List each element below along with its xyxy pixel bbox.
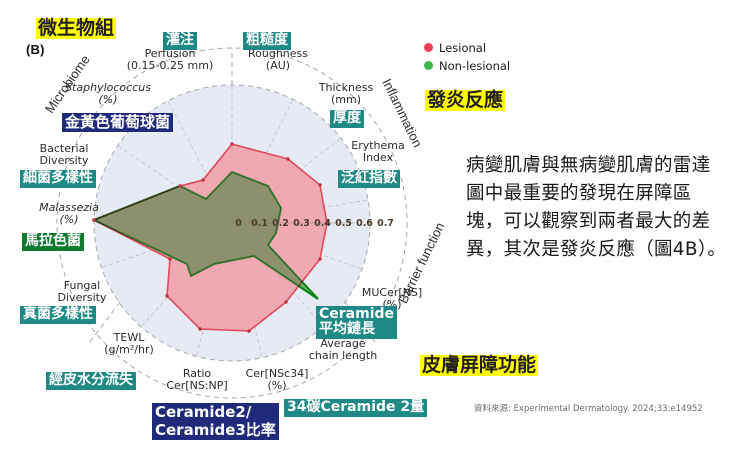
slide-canvas: 0 0.1 0.2 0.3 0.4 0.5 0.6 0.7 (B) Microb… [0, 0, 740, 463]
legend-label-non-lesional: Non-lesional [439, 59, 510, 73]
axis-label-erythema-index: Erythema Index [338, 140, 418, 165]
tick-label: 0.6 [354, 218, 375, 229]
axis-label-staphylococcus: Staphylococcus (%) [52, 82, 164, 107]
axis-label-perfusion: Perfusion (0.15-0.25 mm) [110, 48, 230, 73]
axis-highlight-thickness: 厚度 [330, 110, 364, 128]
legend-item-non-lesional: Non-lesional [424, 58, 510, 73]
tick-label: 0 [228, 218, 249, 229]
legend-dot-non-lesional-icon [424, 61, 433, 70]
axis-label-average-chain-length: Average chain length [298, 338, 388, 363]
ceramide-line1: Ceramide 平均鏈長 [319, 307, 394, 338]
axis-label-ratio-cer-ns-np: Ratio Cer[NS:NP] [152, 368, 242, 393]
panel-letter: (B) [26, 42, 45, 57]
legend-item-lesional: Lesional [424, 40, 510, 55]
tick-label: 0.2 [270, 218, 291, 229]
axis-highlight-ceramide-chain-length: Ceramide 平均鏈長 [316, 306, 397, 339]
group-highlight-microbiome: 微生物組 [36, 18, 116, 39]
axis-highlight-erythema-index: 泛紅指數 [338, 170, 400, 188]
axis-label-bacterial-diversity: Bacterial Diversity [20, 143, 108, 168]
axis-label-roughness: Roughness (AU) [228, 48, 328, 73]
axis-highlight-malassezia: 馬拉色菌 [22, 233, 84, 251]
axis-label-cer-nsc34: Cer[NSc34] (%) [232, 368, 322, 393]
tick-label: 0.4 [312, 218, 333, 229]
axis-highlight-bacterial-diversity: 細菌多樣性 [20, 170, 96, 188]
axis-label-fungal-diversity: Fungal Diversity [42, 280, 122, 305]
axis-label-thickness: Thickness (mm) [306, 82, 386, 107]
legend-dot-lesional-icon [424, 43, 433, 52]
tick-label: 0.3 [291, 218, 312, 229]
axis-highlight-roughness: 粗糙度 [243, 32, 291, 50]
group-highlight-barrier: 皮膚屏障功能 [420, 355, 538, 376]
legend-label-lesional: Lesional [439, 41, 486, 55]
radial-tick-labels: 0 0.1 0.2 0.3 0.4 0.5 0.6 0.7 [228, 218, 396, 229]
axis-highlight-ceramide-ratio: Ceramide2/ Ceramide3比率 [152, 403, 279, 440]
tick-label: 0.7 [375, 218, 396, 229]
axis-label-malassezia: Malassezia (%) [26, 202, 112, 227]
axis-label-tewl: TEWL (g/m²/hr) [84, 332, 174, 357]
axis-highlight-fungal-diversity: 真菌多樣性 [20, 306, 96, 324]
axis-highlight-staphylococcus: 金黃色葡萄球菌 [62, 113, 173, 132]
axis-highlight-tewl: 經皮水分流失 [46, 372, 136, 390]
source-citation: 資料來源: Experimental Dermatology. 2024;33:… [474, 402, 703, 414]
commentary-text: 病變肌膚與無病變肌膚的雷達圖中最重要的發現在屏障區塊，可以觀察到兩者最大的差異，… [466, 152, 728, 264]
axis-highlight-cer-nsc34: 34碳Ceramide 2量 [284, 399, 427, 417]
axis-highlight-perfusion: 灌注 [163, 32, 197, 50]
group-highlight-inflammation: 發炎反應 [425, 90, 505, 111]
chart-legend: Lesional Non-lesional [424, 40, 510, 76]
tick-label: 0.5 [333, 218, 354, 229]
tick-label: 0.1 [249, 218, 270, 229]
